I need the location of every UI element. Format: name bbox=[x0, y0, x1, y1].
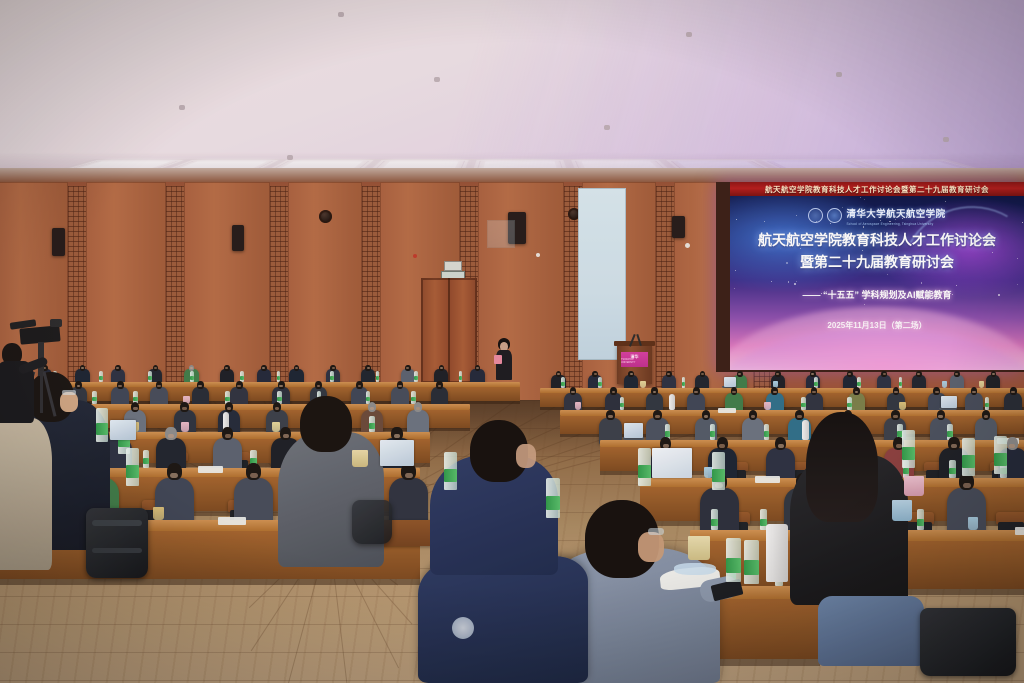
water-bottle bbox=[949, 460, 955, 478]
attendee-neck bbox=[571, 391, 575, 393]
water-bottle bbox=[546, 478, 560, 518]
attendee-neck bbox=[630, 373, 633, 375]
paper-cup bbox=[968, 517, 978, 530]
paper-cup bbox=[272, 422, 280, 432]
thermos-flask bbox=[766, 524, 788, 582]
tripod-leg bbox=[40, 371, 43, 413]
presenter-folder bbox=[494, 355, 502, 364]
water-bottle bbox=[801, 397, 806, 410]
attendee-neck bbox=[370, 407, 375, 410]
attendee-neck bbox=[168, 434, 174, 438]
attendee-neck bbox=[1011, 391, 1015, 393]
water-bottle bbox=[143, 450, 149, 468]
paper-cup bbox=[181, 422, 189, 432]
attendee-body bbox=[389, 478, 428, 524]
attendee-neck bbox=[118, 385, 122, 387]
attendee-neck bbox=[332, 367, 335, 369]
attendee-navy-face bbox=[516, 444, 536, 468]
attendee-neck bbox=[394, 434, 400, 438]
attendee-body bbox=[700, 488, 739, 534]
attendee-neck bbox=[694, 391, 698, 393]
attendee-neck bbox=[751, 415, 756, 418]
attendee-neck bbox=[701, 373, 704, 375]
thermos-flask bbox=[669, 394, 675, 410]
attendee-neck bbox=[732, 391, 736, 393]
backpack bbox=[86, 508, 148, 578]
water-bottle bbox=[369, 416, 374, 432]
paper-cup bbox=[153, 507, 163, 520]
attendee-neck bbox=[797, 415, 802, 418]
attendee-neck bbox=[663, 444, 669, 448]
water-bottle bbox=[376, 371, 380, 382]
pink-paper-cup bbox=[904, 476, 924, 496]
paper-cup bbox=[979, 381, 984, 388]
attendee-neck bbox=[440, 367, 443, 369]
paper-cup bbox=[688, 536, 710, 560]
tripod-leg bbox=[42, 371, 56, 416]
attendee-neck bbox=[608, 415, 613, 418]
attendee-long-hair bbox=[806, 412, 878, 522]
attendee-neck bbox=[894, 391, 898, 393]
paper-cup bbox=[899, 402, 906, 410]
attendee-neck bbox=[237, 385, 241, 387]
attendee-neck bbox=[773, 391, 777, 393]
water-bottle bbox=[190, 371, 194, 382]
napkin bbox=[674, 563, 716, 575]
attendee-neck bbox=[367, 367, 370, 369]
attendee-neck bbox=[704, 415, 709, 418]
blue-paper-cup bbox=[892, 500, 912, 521]
water-bottle bbox=[711, 509, 718, 530]
paper-sheet bbox=[755, 476, 780, 483]
paper-cup bbox=[640, 381, 645, 388]
water-bottle bbox=[459, 371, 463, 382]
attendee-neck bbox=[416, 407, 421, 410]
attendee-neck bbox=[719, 444, 725, 448]
water-bottle bbox=[994, 436, 1007, 474]
paper-cup bbox=[575, 402, 582, 410]
water-bottle bbox=[99, 371, 103, 382]
attendee-neck bbox=[405, 473, 413, 478]
attendee-neck bbox=[883, 373, 886, 375]
water-bottle bbox=[330, 371, 334, 382]
attendee-neck bbox=[279, 385, 283, 387]
water-bottle bbox=[814, 377, 818, 388]
thermos-flask bbox=[802, 420, 809, 440]
laptop-screen bbox=[941, 396, 957, 408]
attendee-neck bbox=[812, 391, 816, 393]
water-bottle bbox=[620, 397, 625, 410]
water-bottle bbox=[962, 438, 975, 476]
camera-viewfinder-icon bbox=[50, 319, 62, 327]
jacket-patch-icon bbox=[452, 617, 474, 639]
water-bottle bbox=[902, 430, 915, 468]
water-bottle bbox=[917, 509, 924, 530]
water-bottle bbox=[744, 540, 759, 584]
attendee-neck bbox=[896, 444, 902, 448]
paper-sheet bbox=[1015, 527, 1024, 535]
water-bottle bbox=[710, 424, 715, 440]
water-bottle bbox=[682, 377, 686, 388]
water-bottle bbox=[764, 424, 769, 440]
foreground-attendee-face bbox=[638, 532, 664, 562]
backpack bbox=[352, 500, 392, 544]
conference-hall-photo: 航天航空学院教育科技人才工作讨论会暨第二十九届教育研讨会 清华大学航天航空学院 … bbox=[0, 0, 1024, 683]
attendee-neck bbox=[935, 391, 939, 393]
water-bottle bbox=[126, 448, 139, 486]
water-bottle bbox=[414, 371, 418, 382]
attendee-neck bbox=[778, 444, 784, 448]
water-bottle bbox=[444, 452, 457, 490]
laptop-screen bbox=[652, 448, 692, 478]
water-bottle bbox=[638, 448, 651, 486]
attendee-neck bbox=[154, 367, 157, 369]
laptop-screen bbox=[380, 440, 414, 466]
attendee-neck bbox=[170, 473, 178, 478]
attendee-neck bbox=[225, 434, 231, 438]
attendee-neck bbox=[893, 415, 898, 418]
attendee-neck bbox=[283, 434, 289, 438]
attendee-neck bbox=[250, 473, 258, 478]
attendee-jeans bbox=[818, 596, 924, 666]
attendee-neck bbox=[951, 444, 957, 448]
backpack-zipper bbox=[92, 548, 142, 553]
attendee-body bbox=[947, 488, 986, 534]
paper-cup bbox=[352, 450, 368, 467]
backpack-strap bbox=[92, 520, 142, 526]
attendee-neck bbox=[984, 415, 989, 418]
draped-jacket bbox=[418, 556, 588, 683]
paper-cup bbox=[942, 381, 947, 388]
water-bottle bbox=[899, 377, 903, 388]
backpack bbox=[920, 608, 1016, 676]
attendee-grey-head bbox=[300, 396, 352, 452]
attendee-neck bbox=[227, 407, 232, 410]
attendee-neck bbox=[398, 385, 402, 387]
paper-sheet bbox=[198, 466, 223, 473]
attendee-neck bbox=[133, 407, 138, 410]
attendee-neck bbox=[157, 385, 161, 387]
water-bottle bbox=[857, 377, 861, 388]
water-bottle bbox=[985, 397, 990, 410]
attendee-neck bbox=[275, 407, 280, 410]
paper-sheet bbox=[718, 408, 736, 413]
water-bottle bbox=[277, 371, 281, 382]
attendee-neck bbox=[655, 415, 660, 418]
paper-cup bbox=[764, 402, 771, 410]
water-bottle bbox=[598, 377, 602, 388]
laptop-screen bbox=[724, 377, 737, 387]
water-bottle bbox=[92, 391, 97, 404]
laptop-screen bbox=[624, 423, 643, 438]
laptop-screen bbox=[110, 420, 136, 440]
water-bottle bbox=[726, 538, 741, 582]
water-bottle bbox=[847, 397, 852, 410]
water-bottle bbox=[240, 371, 244, 382]
attendee-neck bbox=[182, 407, 187, 410]
standing-presenter bbox=[493, 338, 515, 380]
camera-operator bbox=[6, 315, 76, 445]
attendee-neck bbox=[972, 391, 976, 393]
table-shadow bbox=[0, 579, 420, 585]
attendee-neck bbox=[1009, 444, 1015, 448]
water-bottle bbox=[96, 408, 108, 442]
paper-sheet bbox=[218, 517, 247, 525]
attendee-neck bbox=[963, 483, 971, 488]
water-bottle bbox=[561, 377, 565, 388]
water-bottle bbox=[712, 452, 725, 490]
attendee-neck bbox=[992, 373, 995, 375]
water-bottle bbox=[148, 371, 152, 382]
eyeglasses-icon bbox=[648, 528, 664, 535]
attendee-neck bbox=[594, 373, 597, 375]
attendee-neck bbox=[938, 415, 943, 418]
